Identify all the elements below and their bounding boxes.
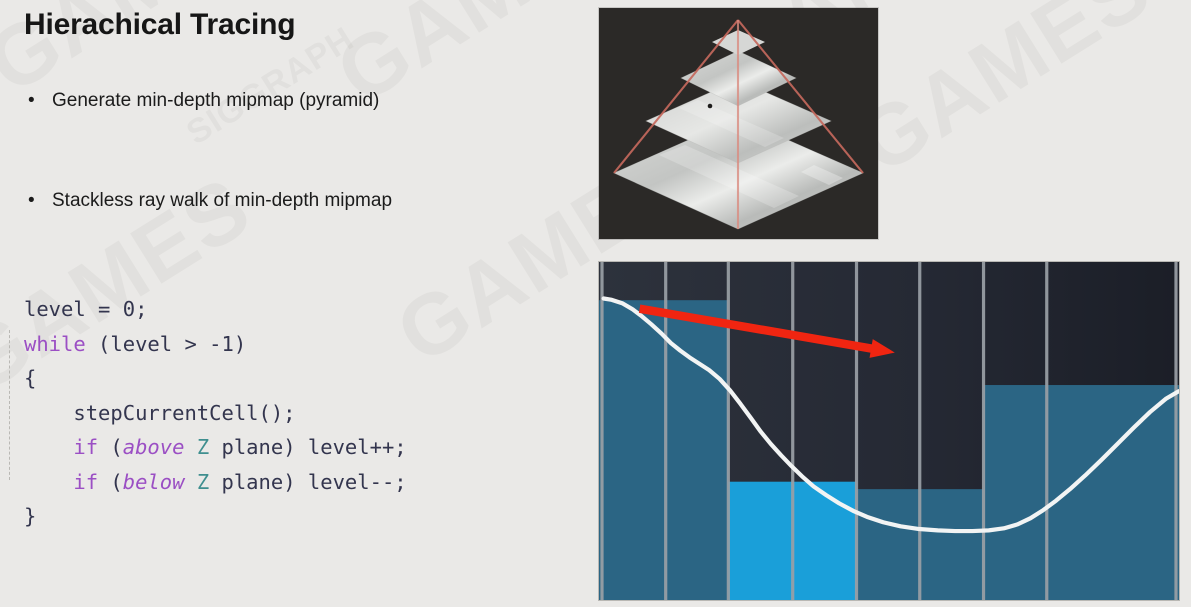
depth-cell bbox=[599, 300, 666, 600]
pyramid-svg bbox=[599, 8, 878, 239]
code-token: plane) level++; bbox=[209, 435, 406, 459]
depth-cell bbox=[857, 489, 920, 600]
watermark-games: GAMES bbox=[840, 0, 1168, 194]
bullet-text: Generate min-depth mipmap (pyramid) bbox=[52, 88, 379, 114]
code-line: } bbox=[24, 499, 407, 534]
code-token: plane) level--; bbox=[209, 470, 406, 494]
depth-cell bbox=[728, 482, 792, 600]
code-token: } bbox=[24, 504, 36, 528]
depth-chart-svg bbox=[599, 262, 1179, 600]
code-token bbox=[24, 470, 73, 494]
bullet-text: Stackless ray walk of min-depth mipmap bbox=[52, 188, 392, 214]
code-token: Z bbox=[197, 470, 209, 494]
code-line: stepCurrentCell(); bbox=[24, 396, 407, 431]
code-token: below bbox=[123, 470, 185, 494]
bullet-item: • Generate min-depth mipmap (pyramid) bbox=[24, 88, 379, 114]
code-token: Z bbox=[197, 435, 209, 459]
code-token: (level > -1) bbox=[86, 332, 246, 356]
mipmap-pyramid-figure bbox=[599, 8, 878, 239]
code-line: level = 0; bbox=[24, 292, 407, 327]
code-line: while (level > -1) bbox=[24, 327, 407, 362]
code-indent-guide bbox=[9, 330, 10, 480]
code-token bbox=[184, 435, 196, 459]
code-line: if (below Z plane) level--; bbox=[24, 465, 407, 500]
code-line: { bbox=[24, 361, 407, 396]
depth-cells-chart bbox=[598, 261, 1180, 601]
bullet-marker-icon: • bbox=[24, 188, 52, 214]
code-token: { bbox=[24, 366, 36, 390]
depth-cell bbox=[984, 385, 1047, 600]
code-token: above bbox=[123, 435, 185, 459]
code-token bbox=[184, 470, 196, 494]
bullet-item: • Stackless ray walk of min-depth mipmap bbox=[24, 188, 392, 214]
code-token: level = 0; bbox=[24, 297, 147, 321]
code-block: level = 0;while (level > -1){ stepCurren… bbox=[24, 292, 407, 534]
code-token: stepCurrentCell(); bbox=[24, 401, 296, 425]
depth-cell bbox=[793, 482, 857, 600]
page-title: Hierachical Tracing bbox=[24, 8, 295, 42]
code-token: if bbox=[73, 470, 98, 494]
bullet-marker-icon: • bbox=[24, 88, 52, 114]
code-line: if (above Z plane) level++; bbox=[24, 430, 407, 465]
code-token: if bbox=[73, 435, 98, 459]
code-token: while bbox=[24, 332, 86, 356]
code-token: ( bbox=[98, 470, 123, 494]
code-token: ( bbox=[98, 435, 123, 459]
code-token bbox=[24, 435, 73, 459]
depth-cell bbox=[920, 489, 984, 600]
